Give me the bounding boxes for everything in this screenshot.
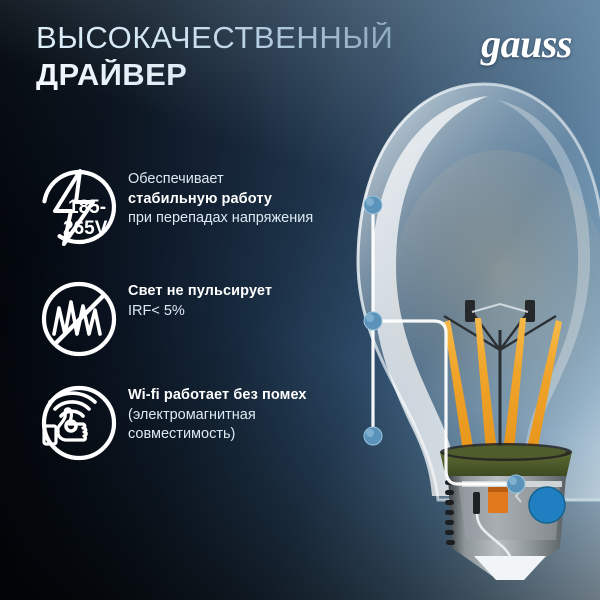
gauss-logo: gauss <box>481 24 572 64</box>
feature-line: (электромагнитная <box>128 406 363 426</box>
orange-capacitor <box>488 487 508 513</box>
lightning-voltage-icon: 185- 265V <box>38 166 120 248</box>
callout-dot-flicker-hl <box>366 314 374 322</box>
bulb-base-cutaway <box>440 443 572 580</box>
feature-text-flicker: Свет не пульсирует IRF< 5% <box>128 282 363 321</box>
feature-line-bold: стабильную работу <box>128 190 363 210</box>
headline-block: ВЫСОКАЧЕСТВЕННЫЙ ДРАЙВЕР <box>36 22 393 90</box>
headline-line-2: ДРАЙВЕР <box>36 59 393 90</box>
orange-capacitor-top <box>488 487 508 492</box>
feature-line: совместимость) <box>128 425 363 445</box>
callout-dot-wifi-hl <box>366 429 374 437</box>
filament-strip <box>503 318 526 452</box>
feature-item-flicker: Свет не пульсирует IRF< 5% <box>32 274 362 378</box>
feature-text-voltage: Обеспечивает стабильную работу при переп… <box>128 170 363 229</box>
lamp-base-metal <box>448 476 566 576</box>
bulb-highlight-right <box>498 100 590 462</box>
filament-strip <box>475 318 497 452</box>
filament-strip <box>526 320 562 452</box>
base-insulator <box>474 556 546 580</box>
blue-capacitor-rim <box>529 487 565 523</box>
filament-clip <box>465 300 475 322</box>
filament-strip <box>444 320 474 452</box>
driver-pcb-board <box>440 452 572 478</box>
blue-capacitor <box>529 487 565 523</box>
base-threads <box>445 480 455 545</box>
bulb-glass <box>358 84 600 500</box>
callout-dot-driver-hl <box>509 477 517 485</box>
callout-dots <box>364 196 525 493</box>
feature-line: IRF< 5% <box>128 302 363 322</box>
callout-dot-voltage-hl <box>366 198 374 206</box>
led-filaments <box>444 318 562 452</box>
feature-line: при перепадах напряжения <box>128 209 363 229</box>
base-cavity <box>458 482 560 540</box>
feature-list: 185- 265V Обеспечивает стабильную работу… <box>32 162 362 474</box>
feature-line-bold: Свет не пульсирует <box>128 282 363 302</box>
feature-item-voltage: 185- 265V Обеспечивает стабильную работу… <box>32 162 362 274</box>
feature-item-wifi: Wi-fi работает без помех (электромагнитн… <box>32 378 362 474</box>
bulb-glow <box>390 150 600 450</box>
callout-dot-wifi[interactable] <box>364 427 382 445</box>
filament-support-wires <box>444 312 556 350</box>
callout-branch-to-base <box>446 470 508 484</box>
filament-clip <box>525 300 535 322</box>
callout-dot-flicker[interactable] <box>364 312 382 330</box>
callout-dot-driver[interactable] <box>507 475 525 493</box>
wifi-thumbs-up-icon <box>38 382 120 464</box>
headline-line-1: ВЫСОКАЧЕСТВЕННЫЙ <box>36 22 393 53</box>
filament-top-wire <box>472 304 528 312</box>
driver-solder-trace <box>516 484 521 502</box>
infographic-poster: ВЫСОКАЧЕСТВЕННЫЙ ДРАЙВЕР gauss 185- 265V… <box>0 0 600 600</box>
wifi-arc-2 <box>55 402 89 409</box>
voltage-text-top: 185- <box>68 197 106 218</box>
driver-wire <box>477 514 514 574</box>
feature-text-wifi: Wi-fi работает без помех (электромагнитн… <box>128 386 363 445</box>
pcb-top-edge <box>440 443 572 461</box>
voltage-text-bottom: 265V <box>63 218 108 239</box>
feature-line: Обеспечивает <box>128 170 363 190</box>
driver-component <box>473 492 480 514</box>
pcb-top-face <box>446 446 566 459</box>
no-flicker-waveform-icon <box>38 278 120 360</box>
driver-board <box>462 481 562 487</box>
feature-line-bold: Wi-fi работает без помех <box>128 386 363 406</box>
bulb-highlight-left <box>372 96 488 496</box>
callout-dot-voltage[interactable] <box>364 196 382 214</box>
callout-branch-line-middle <box>376 321 446 470</box>
